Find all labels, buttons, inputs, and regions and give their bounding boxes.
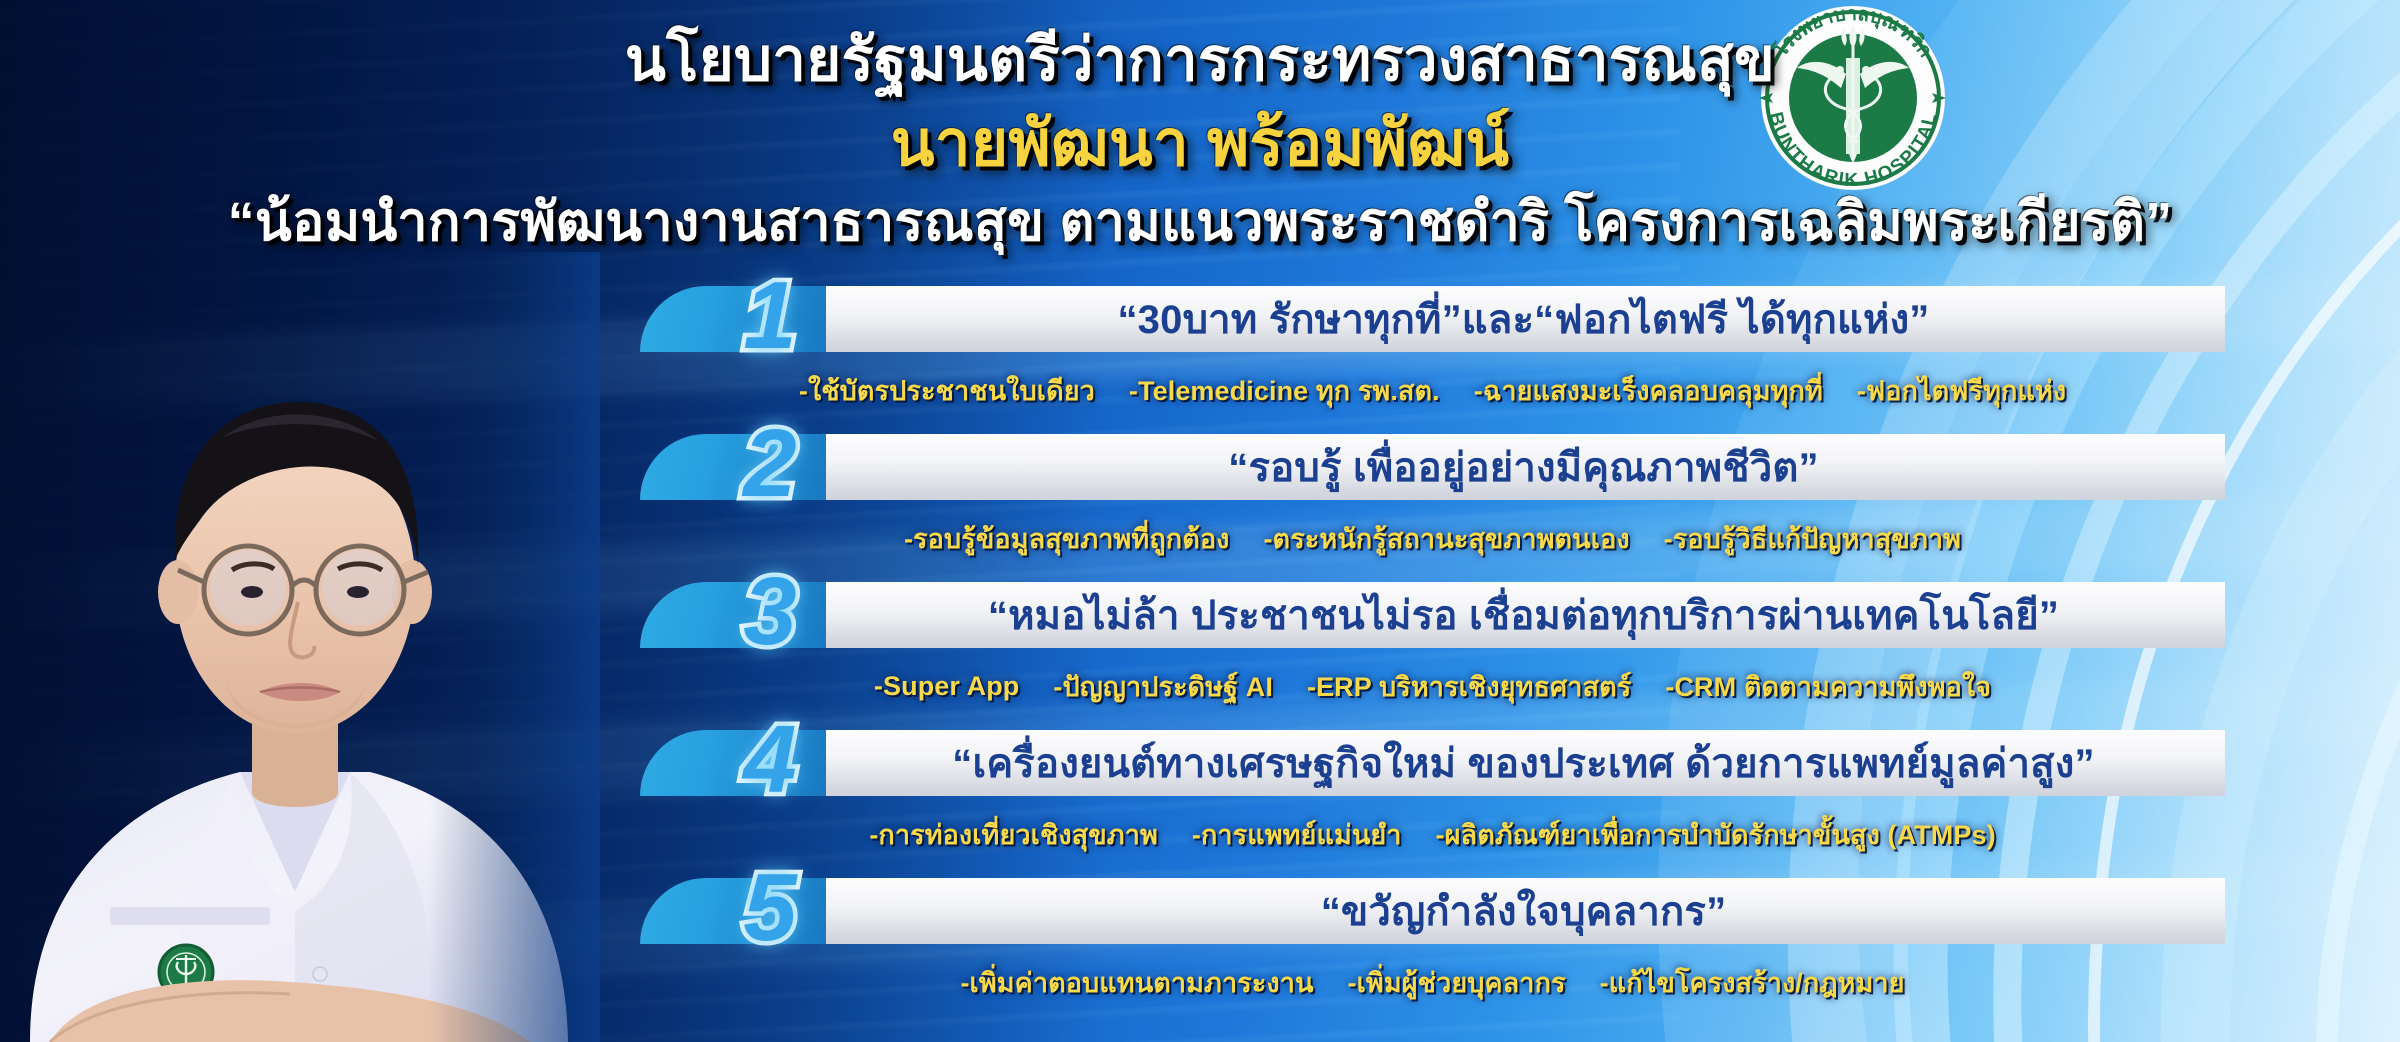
policy-row: “ขวัญกำลังใจบุคลากร”5-เพิ่มค่าตอบแทนตามภ… (0, 872, 2400, 1020)
policy-title: “หมอไม่ล้า ประชาชนไม่รอ เชื่อมต่อทุกบริก… (836, 582, 2211, 648)
policy-bullet-list: -ใช้บัตรประชาชนใบเดียว-Telemedicine ทุก … (640, 364, 2225, 416)
policy-bullet-list: -Super App-ปัญญาประดิษฐ์ AI-ERP บริหารเช… (640, 660, 2225, 712)
policy-row: “รอบรู้ เพื่ออยู่อย่างมีคุณภาพชีวิต”2-รอ… (0, 428, 2400, 576)
policy-row: “เครื่องยนต์ทางเศรษฐกิจใหม่ ของประเทศ ด้… (0, 724, 2400, 872)
policy-bullet-list: -เพิ่มค่าตอบแทนตามภาระงาน-เพิ่มผู้ช่วยบุ… (640, 956, 2225, 1008)
policy-title: “ขวัญกำลังใจบุคลากร” (836, 878, 2211, 944)
policy-number-badge: 3 (710, 560, 830, 664)
policy-bullet: -ปัญญาประดิษฐ์ AI (1053, 665, 1273, 708)
policy-bar: “หมอไม่ล้า ประชาชนไม่รอ เชื่อมต่อทุกบริก… (640, 582, 2225, 648)
policy-bullet: -การท่องเที่ยวเชิงสุขภาพ (869, 813, 1158, 856)
policy-title: “รอบรู้ เพื่ออยู่อย่างมีคุณภาพชีวิต” (836, 434, 2211, 500)
policy-bullet: -เพิ่มผู้ช่วยบุคลากร (1348, 961, 1566, 1004)
policy-bullet: -ERP บริหารเชิงยุทธศาสตร์ (1307, 665, 1631, 708)
policy-number-badge: 2 (710, 412, 830, 516)
policy-bullet: -CRM ติดตามความพึงพอใจ (1665, 665, 1991, 708)
hospital-logo: โรงพยาบาลบุณฑริก BUNTHARIK HOSPITAL (1745, 2, 1960, 194)
policy-title: “30บาท รักษาทุกที่”และ“ฟอกไตฟรี ได้ทุกแห… (836, 286, 2211, 352)
policy-bullet: -Telemedicine ทุก รพ.สต. (1129, 369, 1440, 412)
policy-bullet: -ใช้บัตรประชาชนใบเดียว (799, 369, 1095, 412)
policy-bullet: -การแพทย์แม่นยำ (1192, 813, 1402, 856)
policy-bullet: -รอบรู้วิธีแก้ปัญหาสุขภาพ (1664, 517, 1961, 560)
policy-bullet: -ผลิตภัณฑ์ยาเพื่อการบำบัดรักษาขั้นสูง (A… (1436, 813, 1996, 856)
policy-bullet: -เพิ่มค่าตอบแทนตามภาระงาน (960, 961, 1313, 1004)
policy-banner: โรงพยาบาลบุณฑริก BUNTHARIK HOSPITAL (0, 0, 2400, 1042)
policy-bullet: -Super App (874, 671, 1020, 702)
policy-bullet-list: -การท่องเที่ยวเชิงสุขภาพ-การแพทย์แม่นยำ-… (640, 808, 2225, 860)
policy-bullet: -ฉายแสงมะเร็งคลอบคลุมทุกที่ (1474, 369, 1823, 412)
policy-title: “เครื่องยนต์ทางเศรษฐกิจใหม่ ของประเทศ ด้… (836, 730, 2211, 796)
policy-number-badge: 1 (710, 264, 830, 368)
policy-row: “หมอไม่ล้า ประชาชนไม่รอ เชื่อมต่อทุกบริก… (0, 576, 2400, 724)
policy-bullet-list: -รอบรู้ข้อมูลสุขภาพที่ถูกต้อง-ตระหนักรู้… (640, 512, 2225, 564)
policy-row: “30บาท รักษาทุกที่”และ“ฟอกไตฟรี ได้ทุกแห… (0, 280, 2400, 428)
policy-number-badge: 4 (710, 708, 830, 812)
policy-bullet: -ฟอกไตฟรีทุกแห่ง (1857, 369, 2066, 412)
policy-bar: “เครื่องยนต์ทางเศรษฐกิจใหม่ ของประเทศ ด้… (640, 730, 2225, 796)
policy-list: “30บาท รักษาทุกที่”และ“ฟอกไตฟรี ได้ทุกแห… (0, 280, 2400, 1020)
policy-number-badge: 5 (710, 856, 830, 960)
policy-bar: “รอบรู้ เพื่ออยู่อย่างมีคุณภาพชีวิต” (640, 434, 2225, 500)
policy-bullet: -แก้ไขโครงสร้าง/กฎหมาย (1600, 961, 1905, 1004)
policy-bullet: -ตระหนักรู้สถานะสุขภาพตนเอง (1263, 517, 1629, 560)
policy-bullet: -รอบรู้ข้อมูลสุขภาพที่ถูกต้อง (904, 517, 1230, 560)
policy-bar: “ขวัญกำลังใจบุคลากร” (640, 878, 2225, 944)
policy-bar: “30บาท รักษาทุกที่”และ“ฟอกไตฟรี ได้ทุกแห… (640, 286, 2225, 352)
